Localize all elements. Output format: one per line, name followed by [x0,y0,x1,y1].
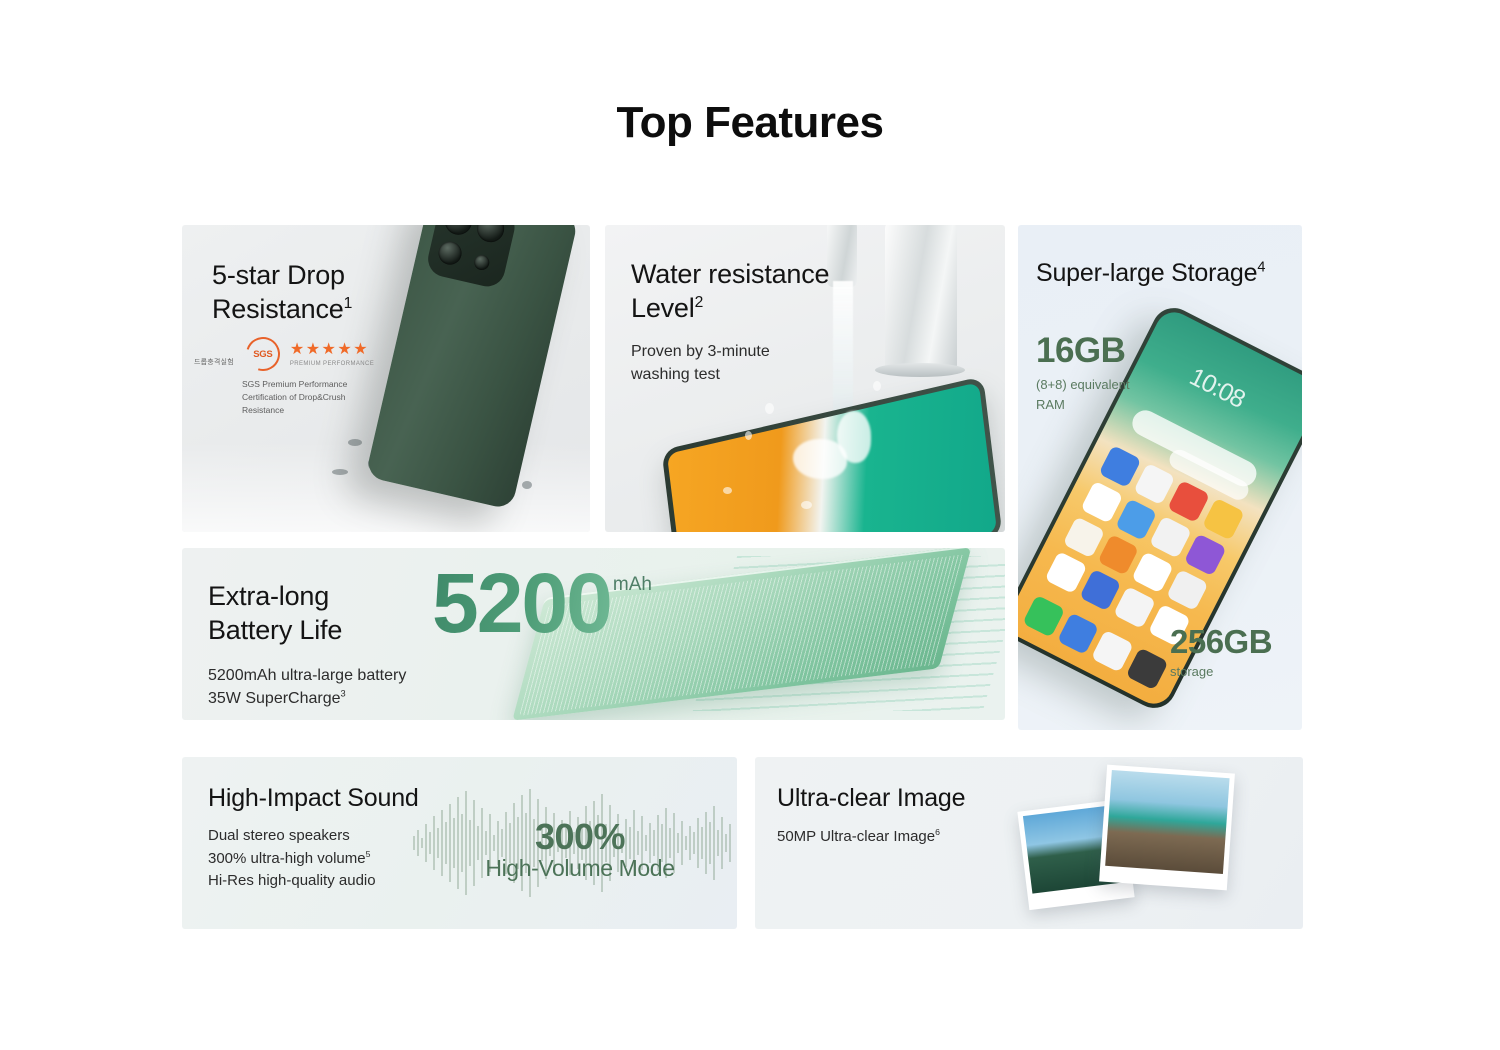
ram-caption: (8+8) equivalent RAM [1036,375,1130,414]
drop-title-footnote: 1 [344,295,353,312]
faucet-body [885,225,957,369]
photo-image [1105,770,1229,874]
page-title: Top Features [0,98,1500,148]
app-icon [1115,498,1158,541]
sample-photo-beach [1099,765,1235,891]
dust-particle [522,481,532,489]
dock-icon-messages [1057,612,1100,655]
sgs-korean-label: 드롭충격실험 [194,357,234,371]
waveform-bar [445,822,447,864]
sound-subtitle: Dual stereo speakers 300% ultra-high vol… [208,825,419,893]
app-icon [1081,481,1124,524]
camera-subtitle-footnote: 6 [935,827,940,837]
feature-card-drop-resistance[interactable]: 5-star Drop Resistance1 드롭충격실험 SGS ★★★★★… [182,225,590,532]
sound-title: High-Impact Sound [208,783,419,814]
sound-subtitle-footnote: 5 [366,849,371,859]
app-icon [1168,481,1211,524]
water-copy: Water resistance Level2 Proven by 3-minu… [631,258,829,386]
app-icon [1133,463,1176,506]
dust-particle [332,469,348,475]
ram-value: 16GB [1036,333,1130,368]
app-icon [1132,551,1175,594]
sgs-certification-badge: 드롭충격실험 SGS ★★★★★ PREMIUM PERFORMANCE SGS… [194,337,454,416]
app-icon [1202,498,1245,541]
star-rating-icon: ★★★★★ [290,341,369,358]
waveform-bar [717,830,719,856]
battery-title: Extra-long Battery Life [208,580,406,648]
ram-stat: 16GB (8+8) equivalent RAM [1036,333,1130,414]
app-icon [1184,533,1227,576]
app-icon [1079,569,1122,612]
waveform-bar [437,828,439,858]
battery-capacity: 5200 mAh [432,564,652,644]
camera-module [425,225,519,290]
sgs-caption: SGS Premium Performance Certification of… [242,378,454,416]
volume-value: 300% [450,819,710,855]
waveform-bar [713,806,715,880]
feature-card-battery[interactable]: Extra-long Battery Life 5200mAh ultra-la… [182,548,1005,720]
waveform-bar [721,817,723,869]
water-droplet [765,403,774,414]
drop-copy: 5-star Drop Resistance1 [212,259,352,327]
sgs-rating: ★★★★★ PREMIUM PERFORMANCE [290,341,374,367]
storage-caption: storage [1170,662,1272,682]
app-icon [1166,569,1209,612]
battery-subtitle: 5200mAh ultra-large battery 35W SuperCha… [208,664,406,710]
battery-subtitle-footnote: 3 [341,688,346,698]
sgs-logo-icon: SGS [246,337,280,371]
drop-title: 5-star Drop Resistance1 [212,259,352,327]
camera-title: Ultra-clear Image [777,783,965,814]
app-icon [1097,534,1140,577]
camera-copy: Ultra-clear Image 50MP Ultra-clear Image… [777,783,965,848]
app-icon [1099,445,1142,488]
waveform-bar [433,816,435,870]
app-icon [1063,516,1106,559]
storage-stat: 256GB storage [1170,625,1272,682]
sgs-badge-row: 드롭충격실험 SGS ★★★★★ PREMIUM PERFORMANCE [194,337,454,371]
sgs-logo-text: SGS [246,337,280,371]
camera-lens [436,239,464,267]
water-title: Water resistance Level2 [631,258,829,326]
waveform-bar [425,824,427,862]
camera-flash [473,254,491,272]
waveform-bar [725,834,727,852]
water-subtitle: Proven by 3-minute washing test [631,340,829,386]
camera-lens [474,225,506,245]
dust-particle [348,439,362,446]
feature-card-water-resistance[interactable]: Water resistance Level2 Proven by 3-minu… [605,225,1005,532]
storage-title-footnote: 4 [1257,260,1265,276]
feature-card-sound[interactable]: High-Impact Sound Dual stereo speakers 3… [182,757,737,929]
sound-subtitle-line3: Hi-Res high-quality audio [208,872,376,889]
waveform-bar [729,824,731,862]
waveform-bar [429,832,431,854]
storage-title: Super-large Storage4 [1036,258,1265,289]
battery-capacity-number: 5200 [432,564,611,644]
feature-card-storage[interactable]: 10:08 [1018,225,1302,730]
star-rating-caption: PREMIUM PERFORMANCE [290,361,374,367]
feature-card-camera[interactable]: Ultra-clear Image 50MP Ultra-clear Image… [755,757,1303,929]
dock-icon-phone [1023,595,1066,638]
storage-copy: Super-large Storage4 [1036,258,1265,289]
phone-clock: 10:08 [1185,363,1249,415]
dock-icon-browser [1092,630,1135,673]
faucet-base [875,363,965,377]
water-title-footnote: 2 [695,294,704,311]
waveform-bar [441,810,443,876]
storage-value: 256GB [1170,625,1272,658]
sound-copy: High-Impact Sound Dual stereo speakers 3… [208,783,419,893]
waveform-bar [421,838,423,848]
app-icon [1045,551,1088,594]
camera-subtitle: 50MP Ultra-clear Image6 [777,826,965,848]
dock-icon-camera [1126,647,1169,690]
water-droplet [801,501,812,509]
volume-mode-label: High-Volume Mode [450,856,710,881]
volume-callout: 300% High-Volume Mode [450,819,710,881]
app-icon [1150,516,1193,559]
water-droplet [723,487,732,494]
battery-copy: Extra-long Battery Life 5200mAh ultra-la… [208,580,406,710]
camera-lens [442,225,474,237]
water-droplet [873,381,881,391]
water-splash [837,411,871,463]
water-droplet [745,431,752,440]
faucet-spout [827,225,857,287]
app-icon [1114,587,1157,630]
battery-capacity-unit: mAh [613,574,652,596]
